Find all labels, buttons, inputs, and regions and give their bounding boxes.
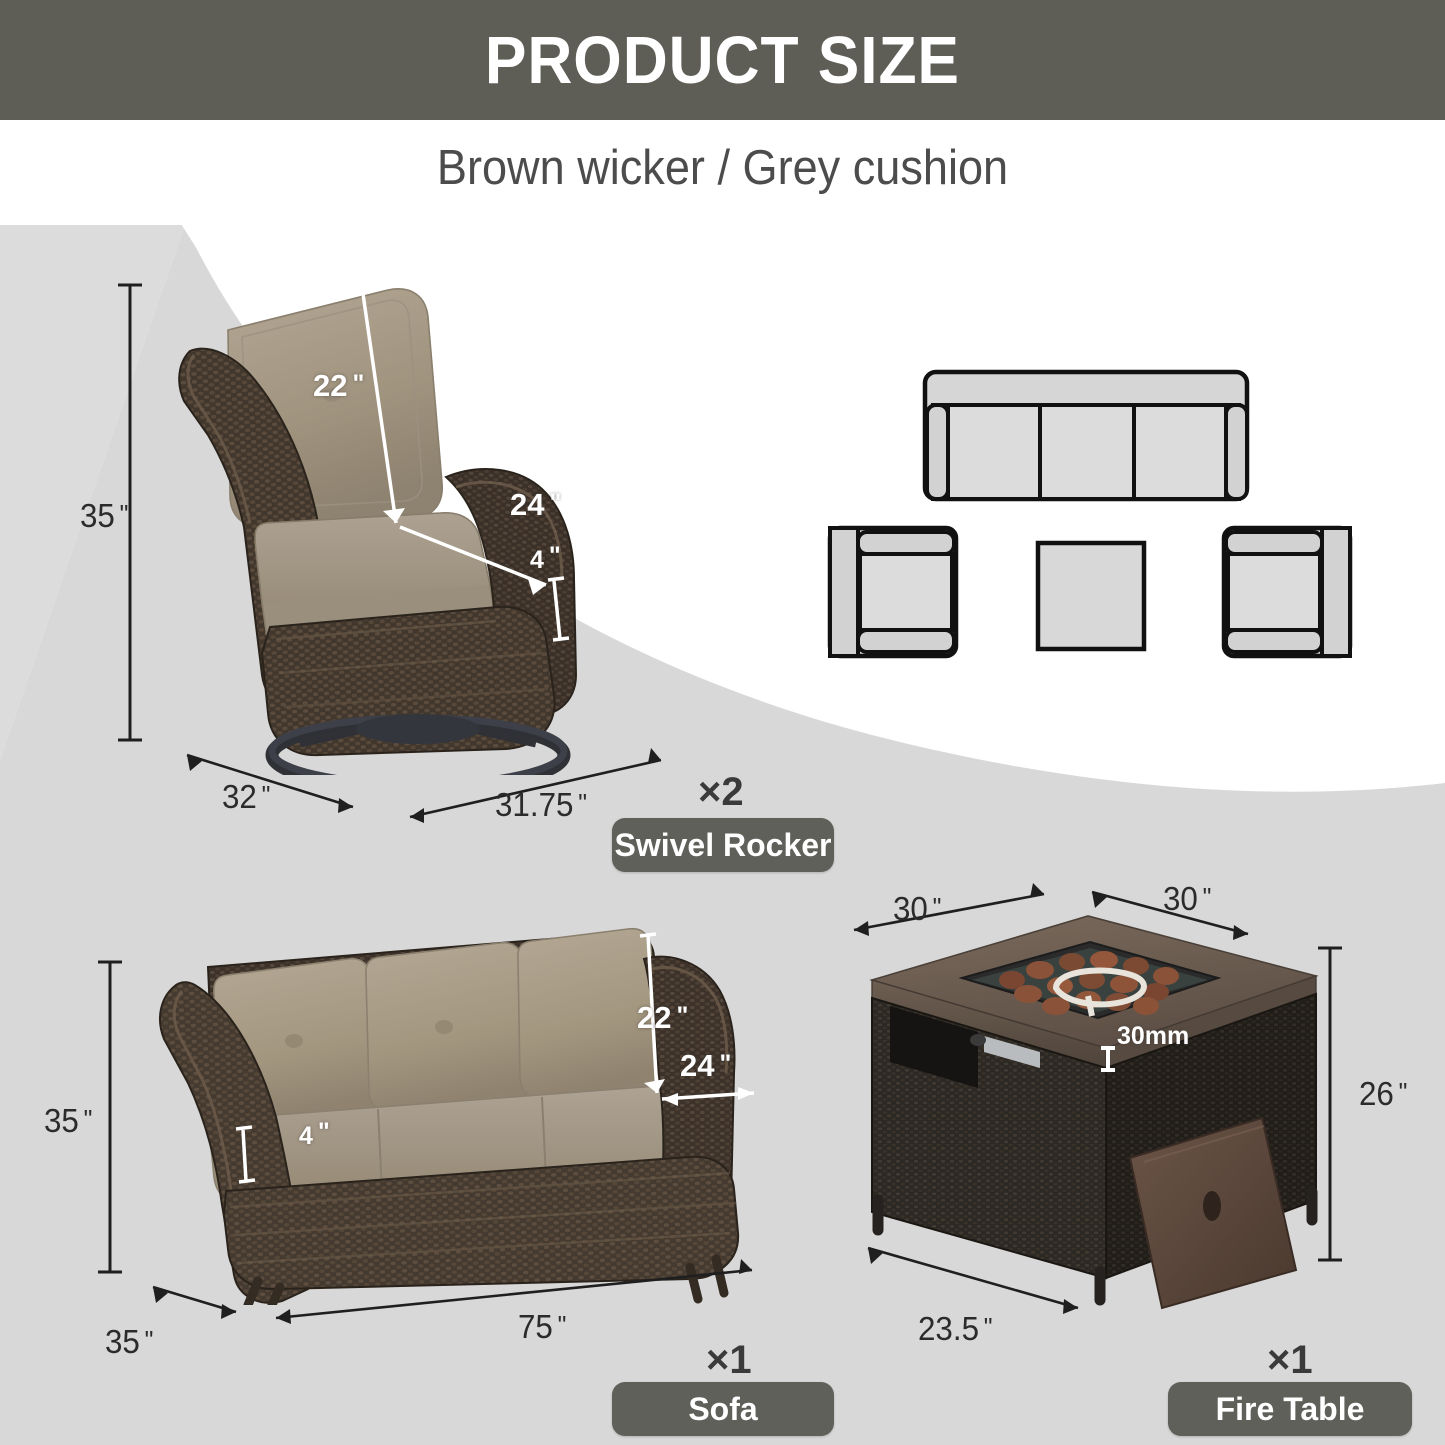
rocker-quantity: ×2 (698, 770, 744, 815)
sofa-dark-dim-lines (80, 950, 800, 1350)
fire-table-dim-base-235: 23.5" (918, 1310, 993, 1348)
sofa-dim-height-35: 35" (44, 1102, 92, 1140)
product-size-infographic: PRODUCT SIZE Brown wicker / Grey cushion (0, 0, 1445, 1445)
fire-table-quantity: ×1 (1267, 1338, 1313, 1383)
rocker-dim-width-3175: 31.75" (495, 786, 587, 824)
rocker-dark-dim-lines (95, 270, 715, 830)
plan-table-top-view (1038, 543, 1144, 649)
fire-table-dark-dim-lines (830, 880, 1430, 1340)
set-layout-top-view (820, 360, 1380, 670)
fire-table-dim-top-right-30: 30" (1163, 880, 1211, 918)
rocker-label-pill: Swivel Rocker (612, 818, 834, 872)
fire-table-dim-top-left-30: 30" (893, 890, 941, 928)
plan-sofa-top-view (925, 372, 1247, 499)
sofa-label-pill: Sofa (612, 1382, 834, 1436)
fire-table-dim-height-26: 26" (1359, 1075, 1407, 1113)
subtitle: Brown wicker / Grey cushion (58, 140, 1387, 196)
sofa-dim-depth-35: 35" (105, 1323, 153, 1361)
sofa-quantity: ×1 (706, 1338, 752, 1383)
sofa-dim-width-75: 75" (518, 1308, 566, 1346)
plan-chair-left-top-view (830, 528, 956, 656)
rocker-dim-depth-32: 32" (222, 778, 270, 816)
fire-table-label-pill: Fire Table (1168, 1382, 1412, 1436)
plan-chair-right-top-view (1224, 528, 1350, 656)
page-title: PRODUCT SIZE (485, 27, 960, 94)
header-bar: PRODUCT SIZE (0, 0, 1445, 120)
rocker-dim-height-35: 35" (80, 497, 128, 535)
